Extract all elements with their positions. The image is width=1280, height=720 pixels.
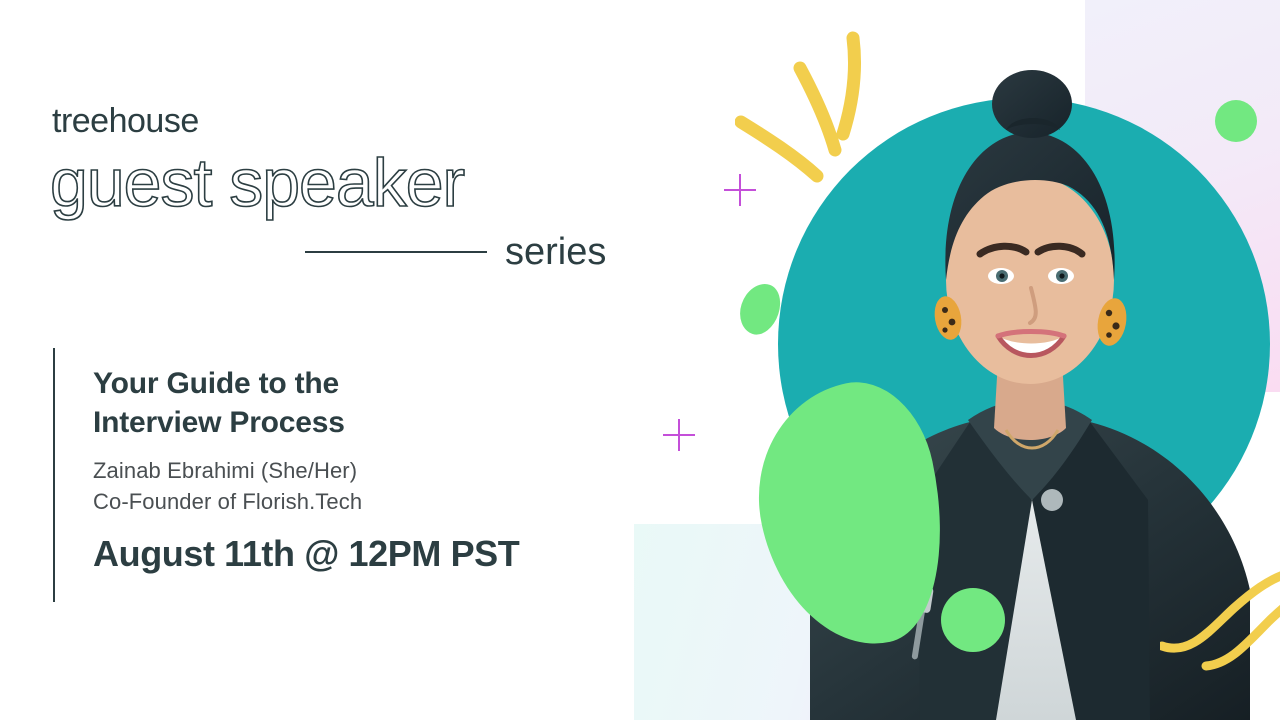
plus-icon-upper — [724, 174, 756, 206]
series-label: series — [505, 233, 606, 271]
talk-title-line-1: Your Guide to the — [93, 367, 339, 400]
green-circle-top-right — [1215, 100, 1257, 142]
green-blob-small — [734, 278, 786, 339]
event-details-block: Your Guide to the Interview Process Zain… — [53, 348, 519, 602]
teal-circle-backdrop — [778, 98, 1270, 590]
speaker-name: Zainab Ebrahimi (She/Her) — [93, 456, 519, 487]
green-blob-large — [737, 369, 968, 663]
event-datetime: August 11th @ 12PM PST — [93, 532, 519, 575]
green-circle-bottom — [941, 588, 1005, 652]
series-title: guest speaker — [50, 144, 650, 223]
talk-title-line-2: Interview Process — [93, 406, 345, 439]
brand-wordmark: treehouse — [52, 104, 650, 138]
speaker-role: Co-Founder of Florish.Tech — [93, 487, 519, 518]
gradient-panel-top-right — [1085, 0, 1280, 392]
plus-icon-lower — [663, 419, 695, 451]
series-divider-rule — [305, 251, 487, 253]
promo-slide: treehouse guest speaker series Your Guid… — [0, 0, 1280, 720]
gradient-panel-bottom-center — [634, 524, 1065, 720]
speaker-portrait — [800, 30, 1260, 720]
headline-block: treehouse guest speaker series — [50, 104, 650, 271]
yellow-burst-strokes — [735, 30, 895, 200]
yellow-wave-strokes — [1160, 570, 1280, 680]
series-row: series — [50, 233, 650, 271]
talk-title: Your Guide to the Interview Process — [93, 364, 519, 442]
